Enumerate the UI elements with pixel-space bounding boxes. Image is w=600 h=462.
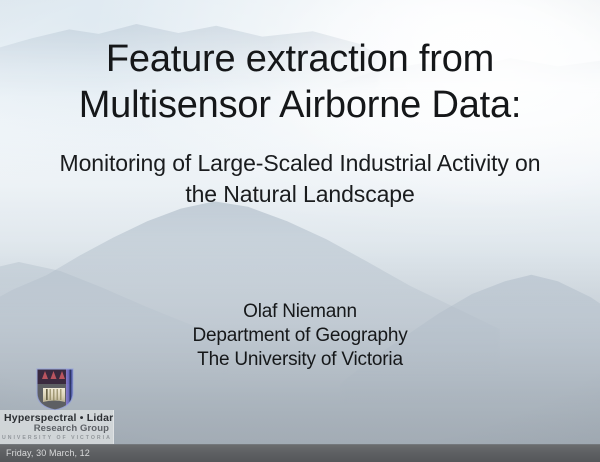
title-line-1: Feature extraction from: [0, 36, 600, 82]
logo-subtitle: Research Group: [0, 423, 109, 434]
author-name: Olaf Niemann: [0, 300, 600, 324]
title-line-2: Multisensor Airborne Data:: [0, 82, 600, 128]
subtitle-line-2: the Natural Landscape: [0, 179, 600, 210]
uvic-shield-crest-icon: [33, 366, 77, 412]
presenter-footer-bar: Friday, 30 March, 12: [0, 444, 600, 462]
slide-content: Feature extraction from Multisensor Airb…: [0, 0, 600, 462]
presentation-slide: Feature extraction from Multisensor Airb…: [0, 0, 600, 462]
subtitle-line-1: Monitoring of Large-Scaled Industrial Ac…: [0, 148, 600, 179]
author-department: Department of Geography: [0, 324, 600, 348]
research-group-logo: Hyperspectral • Lidar Research Group UNI…: [0, 364, 118, 446]
footer-date-label: Friday, 30 March, 12: [6, 448, 90, 458]
author-block: Olaf Niemann Department of Geography The…: [0, 300, 600, 372]
logo-caption-panel: Hyperspectral • Lidar Research Group UNI…: [0, 410, 114, 445]
slide-title: Feature extraction from Multisensor Airb…: [0, 36, 600, 128]
slide-subtitle: Monitoring of Large-Scaled Industrial Ac…: [0, 148, 600, 210]
logo-institution: UNIVERSITY OF VICTORIA: [2, 435, 111, 441]
